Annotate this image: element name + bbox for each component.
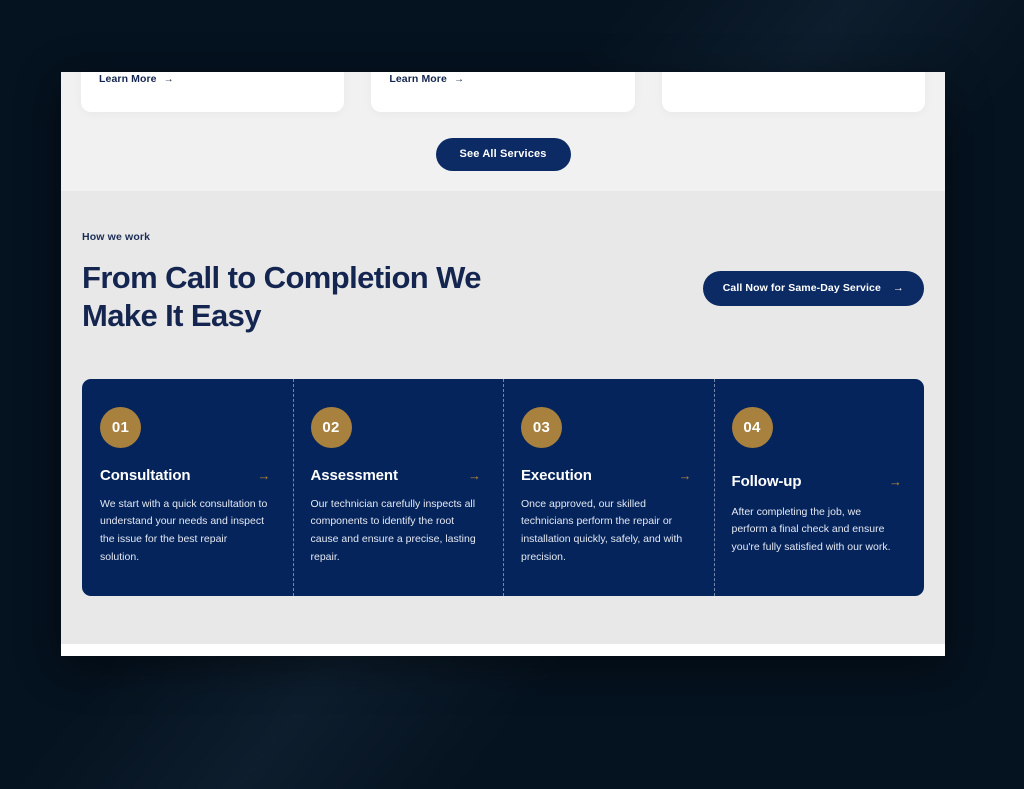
step-number-badge: 04 <box>732 407 773 448</box>
process-header: From Call to Completion We Make It Easy … <box>82 259 924 335</box>
process-step[interactable]: 03 Execution → Once approved, our skille… <box>503 379 714 597</box>
step-title-row: Consultation → <box>100 467 271 484</box>
browser-window: Learn More→ Learn More→ See All Services <box>61 72 945 656</box>
arrow-right-icon: → <box>164 74 174 85</box>
learn-more-link[interactable]: Learn More→ <box>99 73 174 85</box>
step-title-row: Assessment → <box>311 467 482 484</box>
step-description: Once approved, our skilled technicians p… <box>521 496 689 567</box>
step-title: Follow-up <box>732 473 802 490</box>
step-description: Our technician carefully inspects all co… <box>311 496 479 567</box>
service-card[interactable]: Learn More→ <box>371 72 634 112</box>
arrow-right-icon[interactable]: → <box>468 469 481 482</box>
services-section: Learn More→ Learn More→ See All Services <box>61 72 945 191</box>
call-now-label: Call Now for Same-Day Service <box>723 283 881 294</box>
section-eyebrow: How we work <box>82 231 924 243</box>
learn-more-label: Learn More <box>99 73 157 85</box>
process-section: How we work From Call to Completion We M… <box>61 191 945 644</box>
page-scroll-content: Learn More→ Learn More→ See All Services <box>61 72 945 644</box>
step-description: After completing the job, we perform a f… <box>732 504 900 557</box>
step-number-badge: 03 <box>521 407 562 448</box>
see-all-services-wrap: See All Services <box>61 138 945 171</box>
step-title-row: Execution → <box>521 467 692 484</box>
learn-more-link[interactable]: Learn More→ <box>389 73 464 85</box>
arrow-right-icon[interactable]: → <box>679 469 692 482</box>
step-description: We start with a quick consultation to un… <box>100 496 268 567</box>
step-title: Execution <box>521 467 592 484</box>
process-step[interactable]: 04 Follow-up → After completing the job,… <box>714 379 925 597</box>
step-title: Assessment <box>311 467 398 484</box>
process-steps-strip: 01 Consultation → We start with a quick … <box>82 379 924 597</box>
process-step[interactable]: 01 Consultation → We start with a quick … <box>82 379 293 597</box>
arrow-right-icon[interactable]: → <box>889 475 902 488</box>
page-title: From Call to Completion We Make It Easy <box>82 259 502 335</box>
arrow-right-icon: → <box>893 283 904 294</box>
service-card[interactable]: Learn More→ <box>81 72 344 112</box>
step-title-row: Follow-up → <box>732 473 903 490</box>
arrow-right-icon: → <box>454 74 464 85</box>
step-number-badge: 02 <box>311 407 352 448</box>
process-step[interactable]: 02 Assessment → Our technician carefully… <box>293 379 504 597</box>
service-card[interactable] <box>662 72 925 112</box>
step-title: Consultation <box>100 467 190 484</box>
call-now-button[interactable]: Call Now for Same-Day Service → <box>703 271 924 306</box>
see-all-services-button[interactable]: See All Services <box>436 138 571 171</box>
service-card-list: Learn More→ Learn More→ <box>61 72 945 112</box>
learn-more-label: Learn More <box>389 73 447 85</box>
arrow-right-icon[interactable]: → <box>258 469 271 482</box>
step-number-badge: 01 <box>100 407 141 448</box>
